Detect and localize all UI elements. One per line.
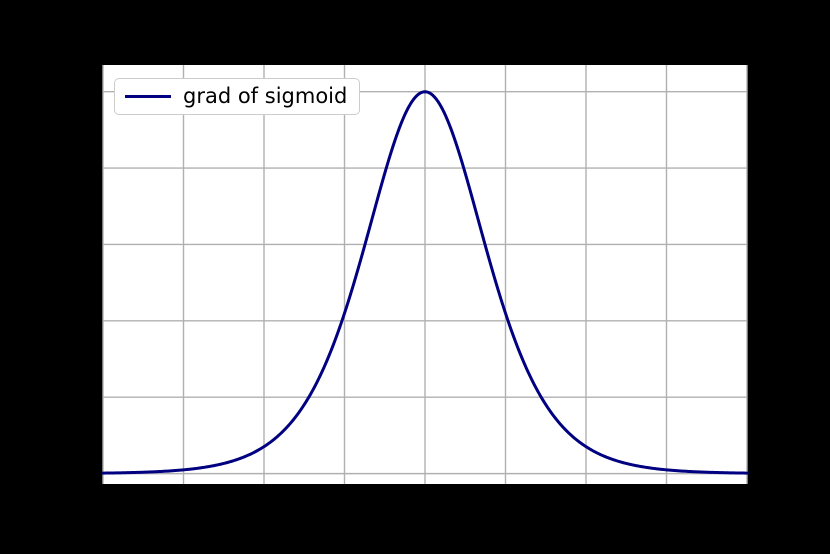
figure-canvas: grad of sigmoid — [0, 0, 830, 554]
legend-entry-label: grad of sigmoid — [183, 86, 347, 107]
curve-path-grad-of-sigmoid — [103, 92, 747, 473]
legend-line-swatch — [125, 95, 171, 98]
plot-area: grad of sigmoid — [103, 65, 747, 484]
data-curve-grad-of-sigmoid — [103, 65, 747, 484]
legend-box: grad of sigmoid — [114, 78, 360, 115]
